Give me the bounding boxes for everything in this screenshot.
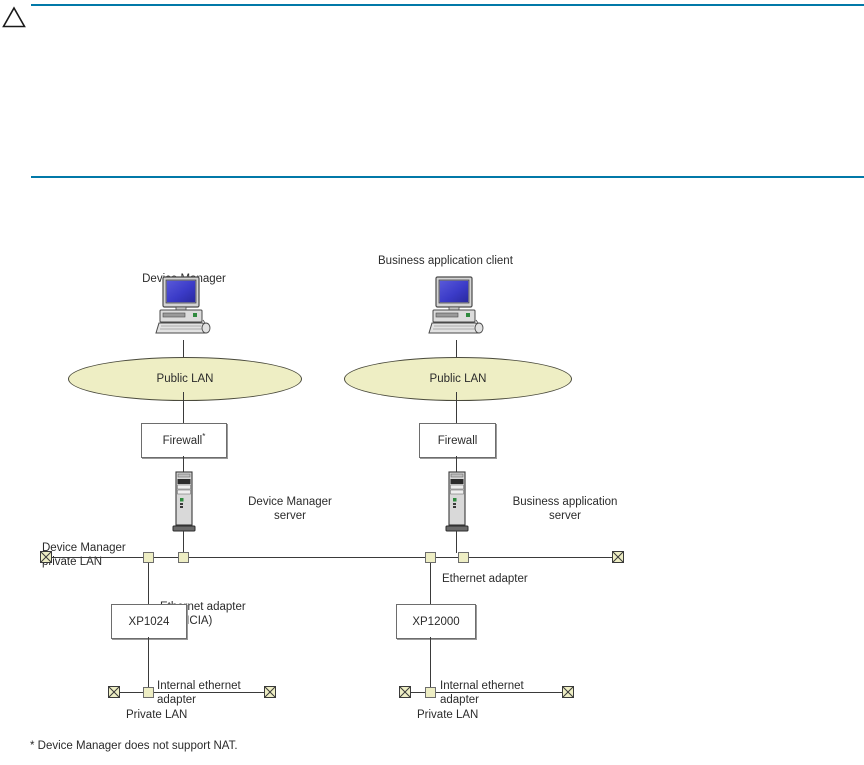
right-internal-adapter-label: Internal ethernet adapter bbox=[440, 651, 524, 735]
right-client-label: Business application client bbox=[378, 254, 513, 268]
firewall-box-right: Firewall bbox=[419, 423, 496, 458]
right-bottom-private-lan-label: Private LAN bbox=[417, 708, 478, 722]
device-box-xp12000-label: XP12000 bbox=[412, 616, 459, 628]
wire-right-lan-to-firewall bbox=[456, 392, 457, 424]
device-manager-private-lan-label: Device Manager private LAN bbox=[42, 513, 126, 597]
bus-node-left-adapter bbox=[143, 552, 154, 563]
wire-left-bus-to-device bbox=[148, 563, 149, 605]
public-lan-left-label: Public LAN bbox=[157, 373, 214, 385]
public-lan-left: Public LAN bbox=[68, 357, 302, 401]
bus-terminator-right-icon bbox=[612, 551, 624, 563]
public-lan-right-label: Public LAN bbox=[430, 373, 487, 385]
bus-node-left-server bbox=[178, 552, 189, 563]
left-private-lan-terminator-right-icon bbox=[264, 686, 276, 698]
server-tower-icon-left bbox=[172, 471, 196, 533]
device-box-xp12000: XP12000 bbox=[396, 604, 476, 639]
wire-right-bus-to-device bbox=[430, 563, 431, 605]
left-private-lan-node bbox=[143, 687, 154, 698]
bus-terminator-left-icon bbox=[40, 551, 52, 563]
wire-right-device-to-private-lan bbox=[430, 637, 431, 692]
device-box-xp1024-label: XP1024 bbox=[129, 616, 170, 628]
desktop-computer-icon-left bbox=[155, 276, 211, 340]
wire-left-lan-to-firewall bbox=[183, 392, 184, 424]
wire-left-firewall-to-server bbox=[183, 456, 184, 472]
network-diagram: Device Manager client bbox=[0, 0, 864, 765]
public-lan-right: Public LAN bbox=[344, 357, 572, 401]
right-private-lan-terminator-right-icon bbox=[562, 686, 574, 698]
footnote-nat: * Device Manager does not support NAT. bbox=[30, 740, 238, 752]
right-private-lan-terminator-left-icon bbox=[399, 686, 411, 698]
left-private-lan-terminator-left-icon bbox=[108, 686, 120, 698]
firewall-left-label: Firewall* bbox=[163, 435, 206, 447]
left-private-lan-bus bbox=[114, 692, 272, 693]
left-server-label: Device Manager server bbox=[200, 467, 380, 551]
wire-right-firewall-to-server bbox=[456, 456, 457, 472]
server-tower-icon-right bbox=[445, 471, 469, 533]
right-private-lan-node bbox=[425, 687, 436, 698]
wire-right-server-to-bus bbox=[456, 531, 457, 553]
firewall-box-left: Firewall* bbox=[141, 423, 227, 458]
private-lan-bus bbox=[46, 557, 624, 558]
right-server-label: Business application server bbox=[472, 467, 658, 551]
wire-left-device-to-private-lan bbox=[148, 637, 149, 692]
bus-node-right-adapter bbox=[425, 552, 436, 563]
wire-left-server-to-bus bbox=[183, 531, 184, 553]
firewall-footnote-marker-left: * bbox=[202, 432, 205, 441]
left-internal-adapter-label: Internal ethernet adapter bbox=[157, 651, 241, 735]
right-ethernet-adapter-label: Ethernet adapter bbox=[442, 572, 528, 586]
firewall-right-label: Firewall bbox=[438, 435, 478, 447]
desktop-computer-icon-right bbox=[428, 276, 484, 340]
bus-node-right-server bbox=[458, 552, 469, 563]
left-bottom-private-lan-label: Private LAN bbox=[126, 708, 187, 722]
device-box-xp1024: XP1024 bbox=[111, 604, 187, 639]
document-page: Device Manager client bbox=[0, 0, 864, 765]
